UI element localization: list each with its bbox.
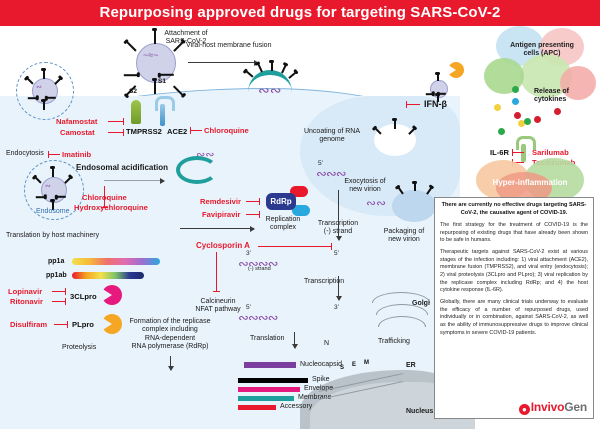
- legend-label-nucleocapsid: Nucleocapsid: [300, 361, 342, 369]
- nucleus-label: Nucleus: [406, 408, 433, 416]
- replicase-formation-label: Formation of the replicase complex inclu…: [126, 318, 214, 351]
- e-protein-label: E: [352, 362, 356, 368]
- ifn-beta-label: IFN-β: [424, 99, 447, 110]
- legend-swatch-envelope: [238, 387, 300, 392]
- summary-lead: There are currently no effective drugs t…: [440, 202, 588, 218]
- inhibitor-bar-imatinib: [48, 154, 60, 155]
- drug-chloroquine: Chloroquine: [82, 193, 127, 202]
- page-title: Repurposing approved drugs for targeting…: [0, 0, 600, 26]
- inhibitor-bar-disulfiram: [54, 324, 68, 325]
- cytokine-dot-red-3: [554, 108, 561, 115]
- invivogen-logo: ●InvivoGen: [519, 400, 587, 415]
- legend-swatch-spike: [238, 378, 308, 383]
- legend-label-spike: Spike: [312, 376, 330, 384]
- virion-attachment: ~≈~: [123, 30, 187, 94]
- protease-plpro-label: PLpro: [72, 320, 94, 329]
- cytokine-dot-green-1: [512, 86, 519, 93]
- il6r-label: IL-6R: [490, 148, 509, 157]
- acidification-arrow: [104, 180, 164, 181]
- exocytosis-label: Exocytosis of new virion: [334, 178, 396, 195]
- proteolysis-label: Proteolysis: [62, 344, 96, 352]
- virion-in-endosome: ∾: [32, 168, 74, 210]
- logo-mark-icon: ●: [519, 404, 530, 415]
- tmprss2-label: TMPRSS2: [126, 127, 162, 136]
- inhibitor-bar-ritonavir: [52, 301, 66, 302]
- cytokine-dot-red-1: [514, 112, 521, 119]
- infographic-canvas: Repurposing approved drugs for targeting…: [0, 0, 600, 429]
- cytokine-dot-yellow-1: [494, 104, 501, 111]
- legend-swatch-nucleocapsid: [244, 362, 296, 368]
- s1-label: S1: [158, 78, 166, 85]
- drug-favipiravir: Favipiravir: [202, 210, 240, 219]
- translation-label: Translation: [250, 335, 284, 343]
- endocytosis-label: Endocytosis: [6, 150, 44, 158]
- header-bar: Repurposing approved drugs for targeting…: [0, 0, 600, 26]
- s2-label: S2: [129, 88, 137, 95]
- ace2-receptor-icon: [155, 96, 169, 126]
- golgi-label: Golgi: [412, 300, 430, 308]
- cytokine-dot-blue: [512, 98, 519, 105]
- uncoated-rna: ∾∾: [196, 148, 214, 161]
- logo-text-main: Invivo: [531, 400, 564, 414]
- polyprotein-pp1ab-bar: [72, 272, 144, 279]
- five-prime-label-1: 5': [334, 250, 339, 257]
- protease-3clpro-label: 3CLpro: [70, 292, 97, 301]
- inhibitor-bar-chloroquine-ace2: [190, 130, 202, 131]
- replication-arrow: [180, 228, 254, 229]
- pp1a-label: pp1a: [48, 258, 64, 265]
- inhibitor-bar-camostat: [108, 132, 124, 133]
- drug-camostat: Camostat: [60, 128, 95, 137]
- cytokine-dot-green-3: [524, 118, 531, 125]
- endosome-label: Endosome: [36, 208, 69, 216]
- fusion-label: Viral-host membrane fusion: [186, 42, 271, 50]
- summary-paragraph-3: Globally, there are many clinical trials…: [440, 299, 588, 337]
- inhibitor-bar-cyclosporin: [258, 246, 332, 247]
- packaging-rna: ∾∾: [366, 196, 386, 210]
- drug-chloroquine-ace2: Chloroquine: [204, 126, 249, 135]
- three-prime-label-2: 3': [334, 304, 339, 311]
- inhibitor-bar-nafamostat: [108, 121, 124, 122]
- transcription-arrow: [338, 276, 339, 300]
- drug-sarilumab: Sarilumab: [532, 148, 569, 157]
- tmprss2-receptor-icon: [131, 100, 141, 124]
- released-rna-genome: ∾∾: [258, 82, 281, 99]
- virion-endocytosed-1: ∾: [24, 70, 64, 110]
- inhibitor-bar-sarilumab: [512, 152, 524, 153]
- replicase-arrow: [170, 356, 171, 370]
- drug-hydroxychloroquine: Hydroxychloroquine: [74, 203, 148, 212]
- uncoating-label: Uncoating of RNA genome: [300, 128, 364, 145]
- summary-textbox: There are currently no effective drugs t…: [434, 197, 594, 419]
- er-label: ER: [406, 362, 416, 370]
- subgenomic-rna: ∾∾∾∾: [238, 310, 278, 326]
- drug-disulfiram: Disulfiram: [10, 320, 47, 329]
- legend-label-accessory: Accessory: [280, 403, 312, 411]
- summary-paragraph-2: Therapeutic targets against SARS-CoV-2 e…: [440, 249, 588, 295]
- legend-swatch-accessory: [238, 405, 276, 410]
- pp1ab-label: pp1ab: [46, 272, 67, 279]
- summary-paragraph-1: The first strategy for the treatment of …: [440, 222, 588, 245]
- drug-lopinavir: Lopinavir: [8, 287, 42, 296]
- n-protein-label: N: [324, 340, 329, 348]
- il6r-receptor-icon: [516, 136, 530, 162]
- inhibitor-bar-ifnb: [406, 104, 420, 105]
- cytokine-dot-green-2: [498, 128, 505, 135]
- inhibitor-bar-lopinavir: [52, 291, 66, 292]
- exocytosed-virion: [372, 120, 420, 158]
- packaging-label: Packaging of new virion: [376, 228, 432, 245]
- s-protein-label: S: [340, 365, 344, 371]
- hyper-inflammation-label: Hyper-inflammation: [470, 178, 590, 187]
- packaging-virion-shape: [392, 190, 436, 224]
- drug-nafamostat: Nafamostat: [56, 117, 97, 126]
- logo-text-sub: Gen: [564, 400, 587, 414]
- rdrp-complex-label: RdRp: [266, 193, 296, 210]
- drug-ritonavir: Ritonavir: [10, 297, 43, 306]
- virion-presented: [424, 74, 452, 102]
- release-cytokines-label: Release of cytokines: [534, 88, 569, 105]
- inhibitor-bar-remdesivir: [246, 201, 260, 202]
- minus-strand-caption: (-) strand: [248, 266, 271, 273]
- transcription-minus-arrow: [338, 190, 339, 240]
- polyprotein-pp1a-bar: [72, 258, 160, 265]
- m-protein-label: M: [364, 360, 369, 366]
- drug-cyclosporin-a: Cyclosporin A: [196, 241, 250, 251]
- drug-remdesivir: Remdesivir: [200, 197, 241, 206]
- ace2-label: ACE2: [167, 127, 187, 136]
- drug-imatinib: Imatinib: [62, 150, 91, 159]
- endosomal-acidification-label: Endosomal acidification: [76, 163, 168, 172]
- apc-label: Antigen presenting cells (APC): [500, 42, 584, 59]
- trafficking-label: Trafficking: [378, 338, 410, 346]
- translation-arrow: [294, 332, 295, 348]
- inhibitor-bar-calcineurin: [216, 252, 217, 292]
- cytokine-dot-red-2: [534, 116, 541, 123]
- legend-swatch-membrane: [238, 396, 294, 401]
- replication-complex-label: Replication complex: [258, 216, 308, 233]
- translation-host-label: Translation by host machinery: [6, 232, 99, 240]
